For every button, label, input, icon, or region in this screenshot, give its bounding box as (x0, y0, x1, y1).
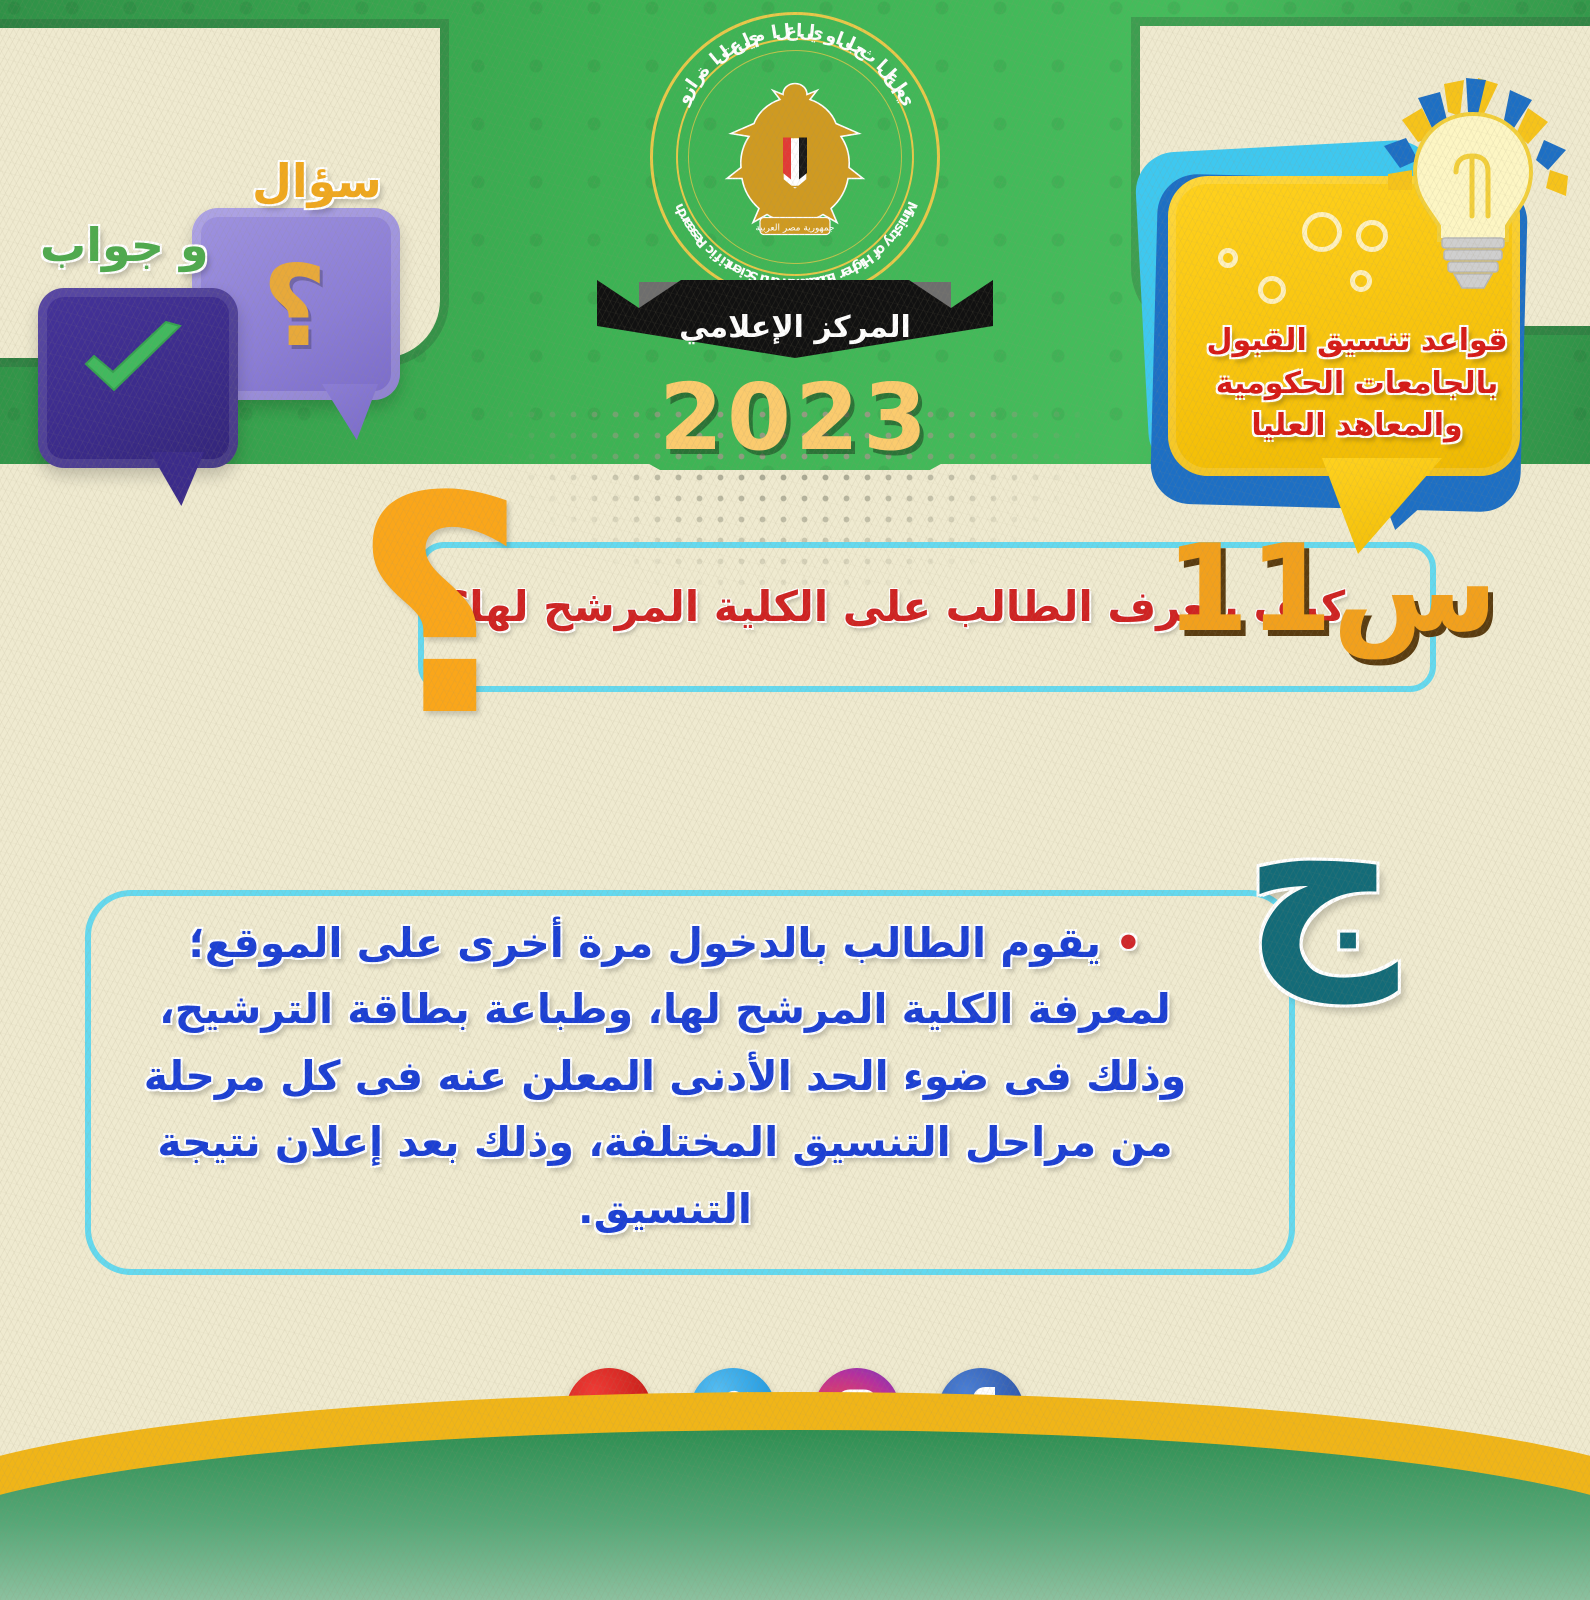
topic-line-3: والمعاهد العليا (1176, 405, 1538, 448)
question-mark-glyph: ؟ (262, 242, 327, 372)
answer-body: يقوم الطالب بالدخول مرة أخرى على الموقع؛… (144, 919, 1186, 1233)
question-number-badge: س11 (1165, 520, 1498, 659)
eagle-of-saladin-icon: جمهورية مصر العربية (720, 75, 870, 250)
answer-badge: ج (1243, 770, 1398, 985)
label-answer-word: و جواب (40, 218, 209, 272)
infographic-poster: وزارة التعليم العالي والبحث العلمي Minis… (0, 0, 1590, 1600)
topic-bubble: قواعد تنسيق القبول بالجامعات الحكومية وا… (1132, 78, 1572, 538)
topic-bubble-text: قواعد تنسيق القبول بالجامعات الحكومية وا… (1176, 320, 1538, 448)
topic-line-2: بالجامعات الحكومية (1176, 363, 1538, 406)
answer-text: • يقوم الطالب بالدخول مرة أخرى على الموق… (115, 910, 1215, 1242)
topic-line-1: قواعد تنسيق القبول (1176, 320, 1538, 363)
footer-green-band (0, 1430, 1590, 1600)
emblem-caption: جمهورية مصر العربية (755, 223, 834, 233)
media-center-ribbon: المركز الإعلامي (597, 280, 993, 358)
large-question-mark-icon: ؟ (352, 458, 526, 758)
label-question-word: سؤال (252, 154, 382, 208)
question-answer-badge: ؟ سؤال و جواب (20, 150, 440, 450)
check-mark-icon (78, 320, 188, 402)
ministry-logo: وزارة التعليم العالي والبحث العلمي Minis… (650, 12, 940, 302)
year-label: 2023 (659, 364, 931, 471)
ribbon-label: المركز الإعلامي (597, 310, 993, 345)
answer-bullet: • (1115, 919, 1141, 967)
lightbulb-icon (1378, 78, 1568, 308)
